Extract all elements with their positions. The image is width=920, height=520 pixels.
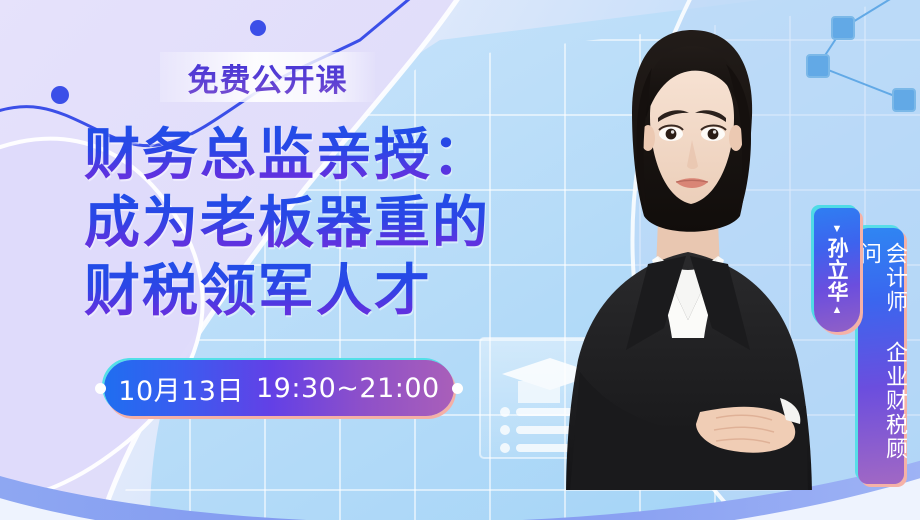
schedule-date: 10月13日 xyxy=(118,369,244,408)
speaker-role: 会计师 企业财税顾问 xyxy=(855,242,907,484)
chart-node-dot-2 xyxy=(250,20,266,36)
headline-line-3: 财税领军人才 xyxy=(84,258,554,326)
triangle-up-icon: ▲ xyxy=(832,306,843,315)
bullet-dot-right xyxy=(452,383,463,394)
schedule-time: 19:30~21:00 xyxy=(256,373,440,404)
promo-banner: 免费公开课 财务总监亲授： 成为老板器重的 财税领军人才 10月13日 19:3… xyxy=(0,0,920,520)
avatar xyxy=(540,20,860,520)
schedule-pill: 10月13日 19:30~21:00 xyxy=(104,360,454,416)
free-course-badge-label: 免费公开课 xyxy=(188,55,348,100)
page-title: 财务总监亲授： 成为老板器重的 财税领军人才 xyxy=(84,122,554,326)
headline-line-1: 财务总监亲授： xyxy=(84,122,554,190)
speaker-name: 孙立华 xyxy=(825,237,849,303)
speaker-role-badge: 会计师 企业财税顾问 xyxy=(858,228,904,484)
headline-line-2: 成为老板器重的 xyxy=(84,190,554,258)
chart-node-dot xyxy=(51,86,69,104)
speaker-name-badge: ▼ 孙立华 ▲ xyxy=(814,208,860,332)
triangle-down-icon: ▼ xyxy=(832,225,843,234)
free-course-badge: 免费公开课 xyxy=(160,52,375,102)
bullet-dot-left xyxy=(95,383,106,394)
